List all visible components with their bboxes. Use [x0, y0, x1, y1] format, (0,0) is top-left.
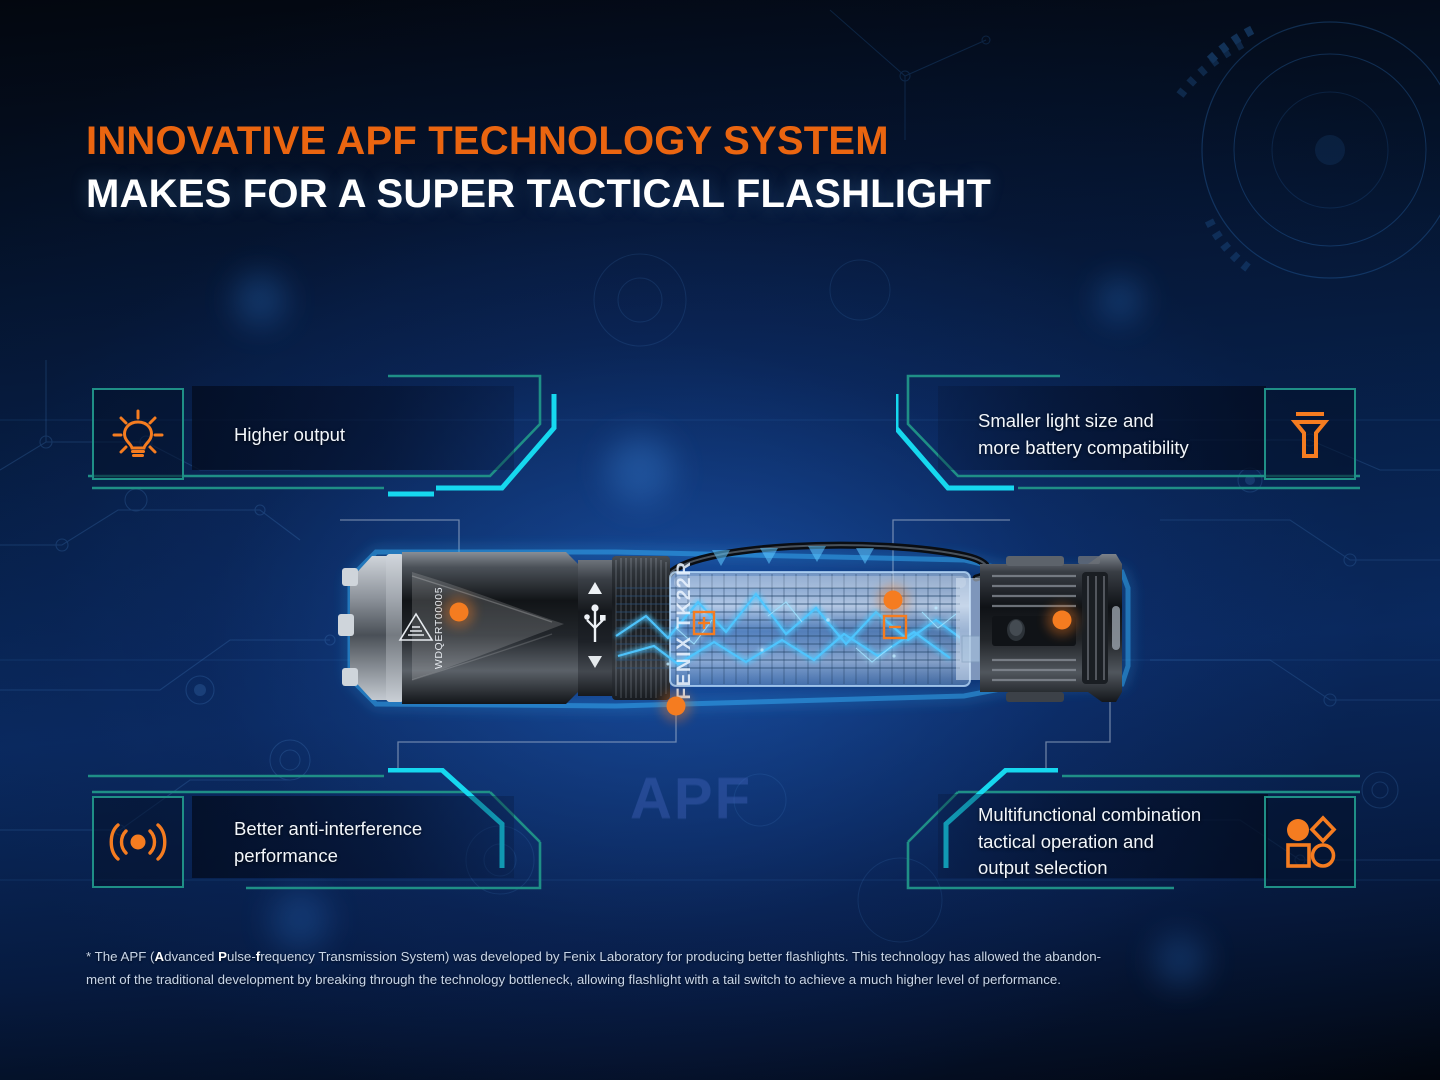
footnote-block: * The APF (Advanced Pulse-frequency Tran…	[86, 946, 1358, 991]
flashlight-icon	[1279, 403, 1341, 465]
footnote-rest: requency Transmission System) was develo…	[260, 949, 1101, 964]
headline-line-2: MAKES FOR A SUPER TACTICAL FLASHLIGHT	[86, 171, 991, 217]
headline-line-1: INNOVATIVE APF TECHNOLOGY SYSTEM	[86, 118, 991, 164]
icon-box-higher-output	[92, 388, 184, 480]
infographic-canvas: INNOVATIVE APF TECHNOLOGY SYSTEM MAKES F…	[0, 0, 1440, 1080]
hotspot-head	[443, 596, 475, 628]
feature-label-anti-interference: Better anti-interference performance	[234, 816, 422, 869]
icon-box-anti-interference	[92, 796, 184, 888]
shapes-icon	[1279, 811, 1341, 873]
icon-box-smaller-light-size	[1264, 388, 1356, 480]
light-bulb-icon	[107, 403, 169, 465]
hotspot-tube-lower	[660, 690, 692, 722]
product-serial-text: WDQERT00005	[433, 587, 445, 669]
feature-panel-multifunctional: Multifunctional combination tactical ope…	[896, 768, 1360, 896]
feature-panel-smaller-light-size: Smaller light size and more battery comp…	[896, 372, 1360, 500]
apf-watermark: APF	[630, 765, 752, 832]
footnote-prefix: * The APF (	[86, 949, 154, 964]
feature-panel-higher-output: Higher output	[88, 372, 588, 500]
feature-label-multifunctional: Multifunctional combination tactical ope…	[978, 802, 1201, 882]
feature-label-smaller-light-size: Smaller light size and more battery comp…	[978, 408, 1189, 461]
footnote-ulse: ulse-	[227, 949, 256, 964]
product-flashlight-image: WDQERT00005	[316, 516, 1156, 741]
svg-text:FENIX TK22R: FENIX TK22R	[674, 560, 695, 699]
footnote-dvanced: dvanced	[164, 949, 218, 964]
footnote-p: P	[218, 949, 227, 964]
footnote-a: A	[154, 949, 164, 964]
footnote-line-2: ment of the traditional development by b…	[86, 972, 1061, 987]
icon-box-multifunctional	[1264, 796, 1356, 888]
product-brand-text: FENIX TK22R	[674, 560, 695, 699]
hotspot-tail	[1046, 604, 1078, 636]
feature-panel-anti-interference: Better anti-interference performance	[88, 768, 588, 896]
headline-block: INNOVATIVE APF TECHNOLOGY SYSTEM MAKES F…	[86, 118, 991, 217]
feature-label-higher-output: Higher output	[234, 422, 345, 449]
hotspot-tube-upper	[877, 584, 909, 616]
signal-waves-icon	[107, 811, 169, 873]
